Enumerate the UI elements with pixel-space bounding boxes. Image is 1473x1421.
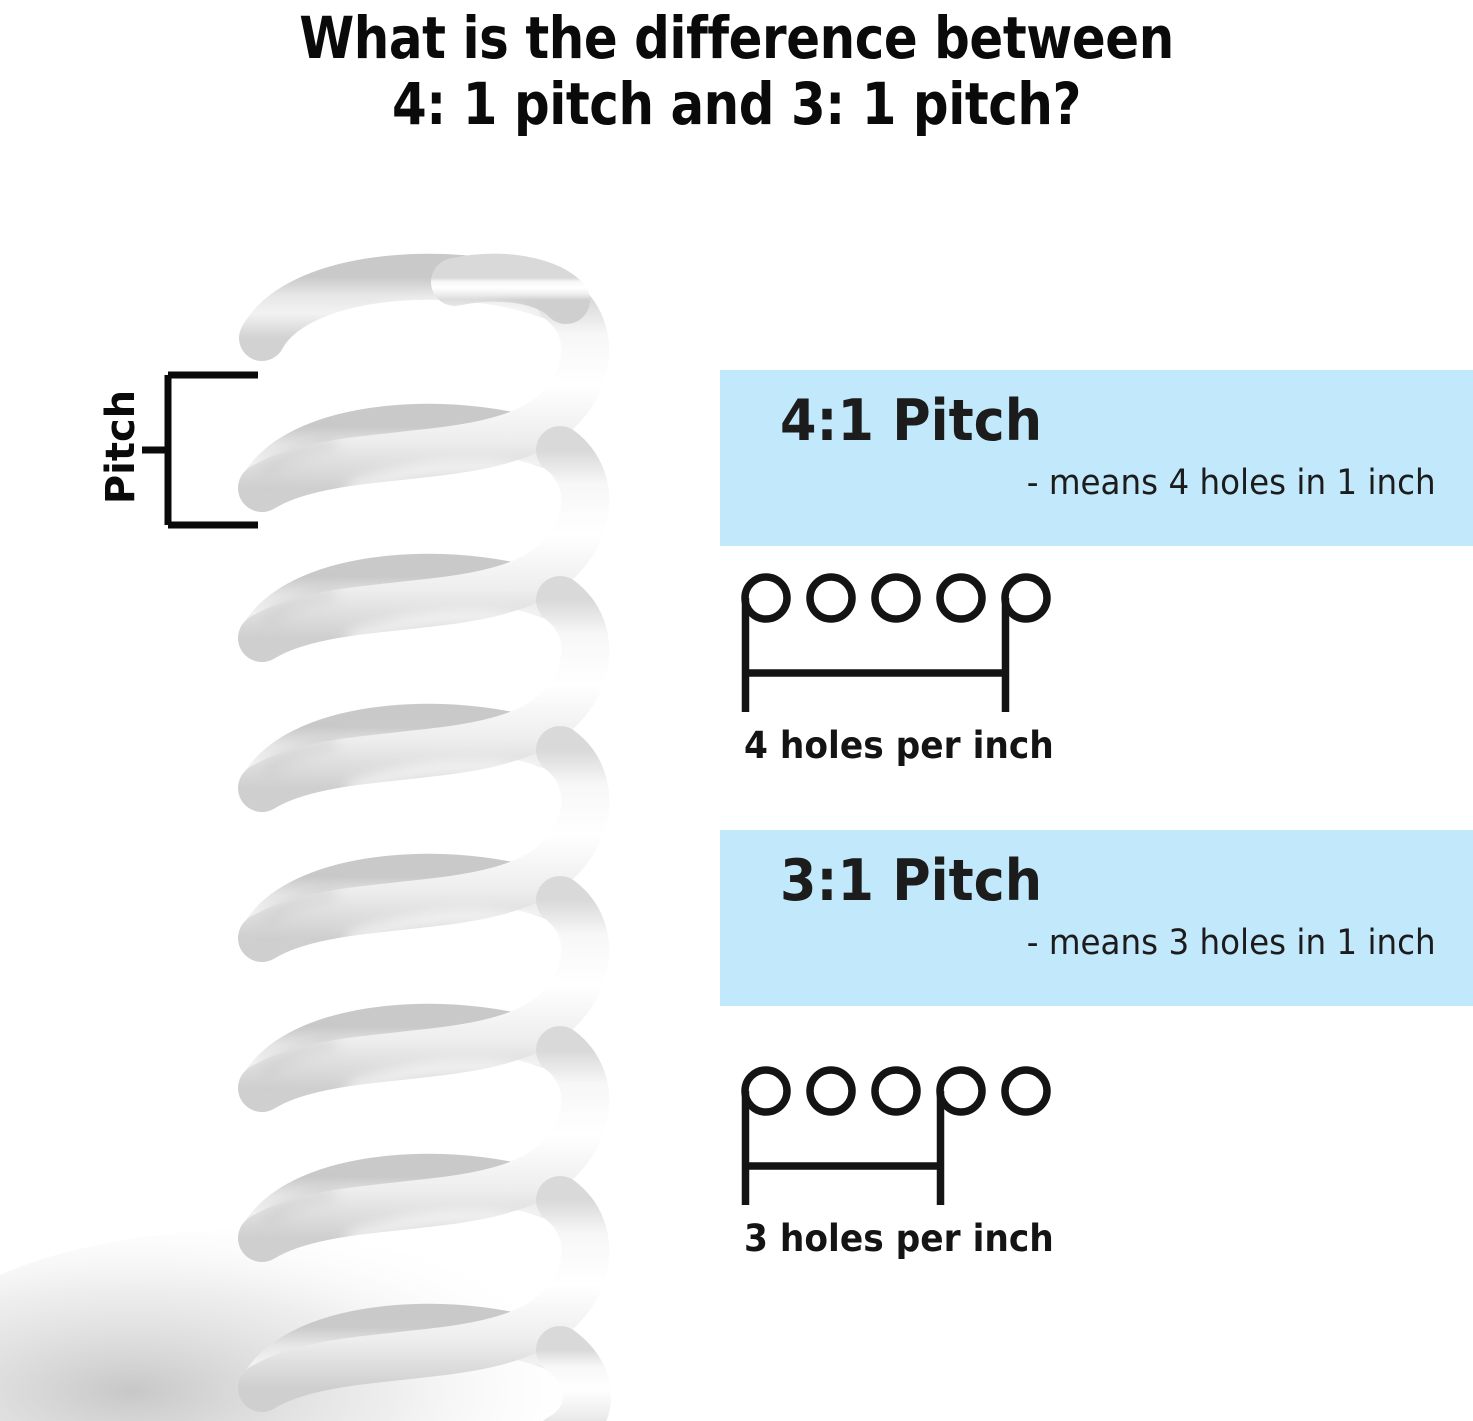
- pitch-label-text: Pitch: [98, 390, 144, 504]
- hole-circle: [745, 577, 787, 619]
- holes-svg-4-1: [740, 572, 1080, 722]
- hole-circle: [745, 1070, 787, 1112]
- hole-circle: [940, 577, 982, 619]
- banner-subtitle-3-1: - means 3 holes in 1 inch: [827, 924, 1445, 963]
- holes-diagram-3-1: 3 holes per inch: [740, 1065, 1160, 1260]
- holes-svg-3-1: [740, 1065, 1080, 1215]
- hole-circle: [810, 577, 852, 619]
- banner-title-4-1: 4:1 Pitch: [780, 392, 1392, 450]
- banner-subtitle-4-1: - means 4 holes in 1 inch: [827, 464, 1445, 503]
- holes-caption-3-1: 3 holes per inch: [744, 1217, 1131, 1260]
- banner-pitch-3-1: 3:1 Pitch - means 3 holes in 1 inch: [720, 830, 1473, 1006]
- holes-diagram-4-1: 4 holes per inch: [740, 572, 1160, 767]
- pitch-label: Pitch: [46, 372, 196, 522]
- hole-circle: [1005, 577, 1047, 619]
- hole-circle: [875, 1070, 917, 1112]
- spiral-coil-illustration: [0, 0, 700, 1421]
- hole-circle: [810, 1070, 852, 1112]
- spiral-coil-photo: [0, 0, 700, 1421]
- coil-top-end: [455, 278, 566, 300]
- hole-circle: [875, 577, 917, 619]
- hole-circle: [940, 1070, 982, 1112]
- banner-pitch-4-1: 4:1 Pitch - means 4 holes in 1 inch: [720, 370, 1473, 546]
- infographic-root: What is the difference between 4: 1 pitc…: [0, 0, 1473, 1421]
- hole-circle: [1005, 1070, 1047, 1112]
- banner-title-3-1: 3:1 Pitch: [780, 852, 1392, 910]
- holes-caption-4-1: 4 holes per inch: [744, 724, 1131, 767]
